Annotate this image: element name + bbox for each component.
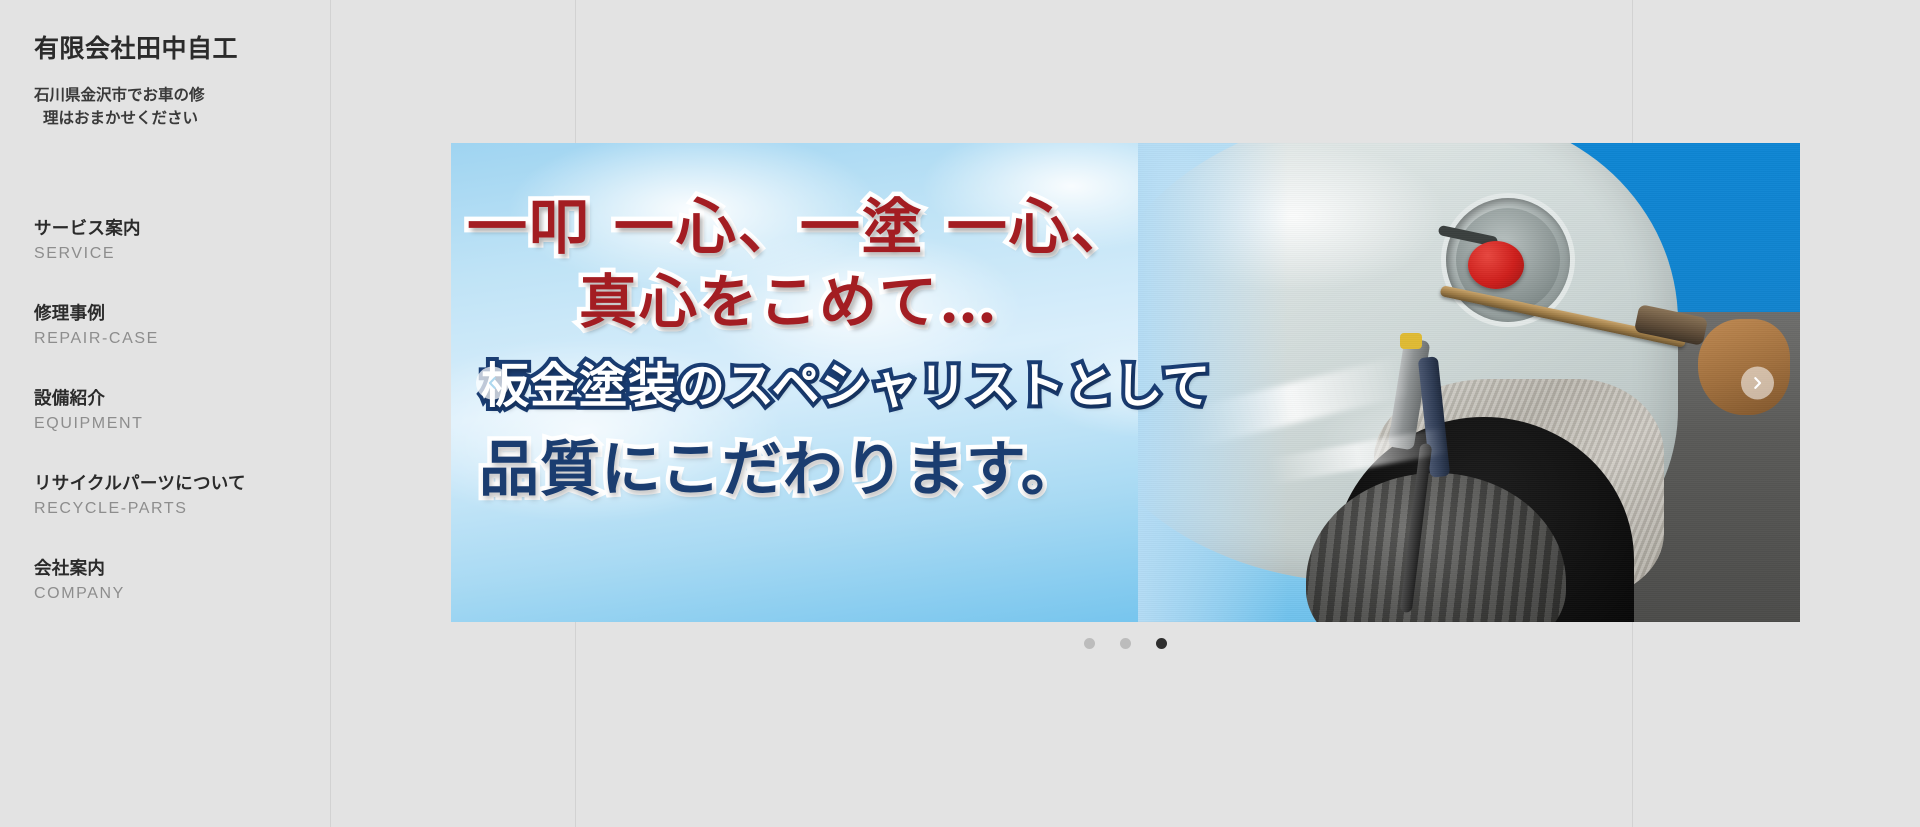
hero-subhead-white: 板金塗装のスペシャリストとして (481, 346, 1211, 416)
hero-copy: 一叩 一心、一塗 一心、 真心をこめて… 板金塗装のスペシャリストとして 品質に… (451, 143, 1800, 622)
nav-label-ja: サービス案内 (34, 218, 141, 238)
sidebar-item-service[interactable]: サービス案内 SERVICE (34, 214, 296, 263)
nav-label-ja: 修理事例 (34, 303, 105, 323)
site-tagline-line2: 理はおまかせください (34, 108, 296, 130)
hero-headline-red-line1: 一叩 一心、一塗 一心、 (467, 179, 1133, 266)
main-navigation: サービス案内 SERVICE 修理事例 REPAIR-CASE 設備紹介 EQU… (34, 214, 296, 603)
sidebar-item-recycle-parts[interactable]: リサイクルパーツについて RECYCLE-PARTS (34, 469, 296, 518)
site-tagline: 石川県金沢市でお車の修 理はおまかせください (34, 85, 296, 130)
page-root: 有限会社田中自工 石川県金沢市でお車の修 理はおまかせください サービス案内 S… (0, 0, 1920, 827)
nav-label-en: COMPANY (34, 585, 296, 603)
nav-label-ja: リサイクルパーツについて (34, 473, 246, 493)
nav-label-en: SERVICE (34, 245, 296, 263)
carousel-prev-button[interactable] (476, 366, 509, 399)
sidebar-item-repair-case[interactable]: 修理事例 REPAIR-CASE (34, 299, 296, 348)
nav-label-ja: 会社案内 (34, 558, 105, 578)
main-content: 一叩 一心、一塗 一心、 真心をこめて… 板金塗装のスペシャリストとして 品質に… (330, 0, 1920, 827)
carousel-dot-1[interactable] (1084, 638, 1095, 649)
nav-label-en: REPAIR-CASE (34, 330, 296, 348)
chevron-left-icon (485, 375, 500, 390)
chevron-right-icon (1750, 375, 1765, 390)
hero-headline-red-line2: 真心をこめて… (579, 255, 999, 339)
hero-carousel[interactable]: 一叩 一心、一塗 一心、 真心をこめて… 板金塗装のスペシャリストとして 品質に… (451, 143, 1800, 622)
sidebar-item-equipment[interactable]: 設備紹介 EQUIPMENT (34, 384, 296, 433)
nav-label-en: EQUIPMENT (34, 415, 296, 433)
site-tagline-line1: 石川県金沢市でお車の修 (34, 87, 205, 104)
sidebar: 有限会社田中自工 石川県金沢市でお車の修 理はおまかせください サービス案内 S… (0, 0, 330, 827)
hero-subhead-navy: 品質にこだわります。 (479, 421, 1082, 508)
carousel-dot-3[interactable] (1156, 638, 1167, 649)
carousel-pagination (451, 638, 1800, 649)
nav-label-ja: 設備紹介 (34, 388, 105, 408)
nav-label-en: RECYCLE-PARTS (34, 500, 296, 518)
carousel-dot-2[interactable] (1120, 638, 1131, 649)
sidebar-item-company[interactable]: 会社案内 COMPANY (34, 554, 296, 603)
site-title: 有限会社田中自工 (34, 34, 296, 65)
carousel-next-button[interactable] (1741, 366, 1774, 399)
